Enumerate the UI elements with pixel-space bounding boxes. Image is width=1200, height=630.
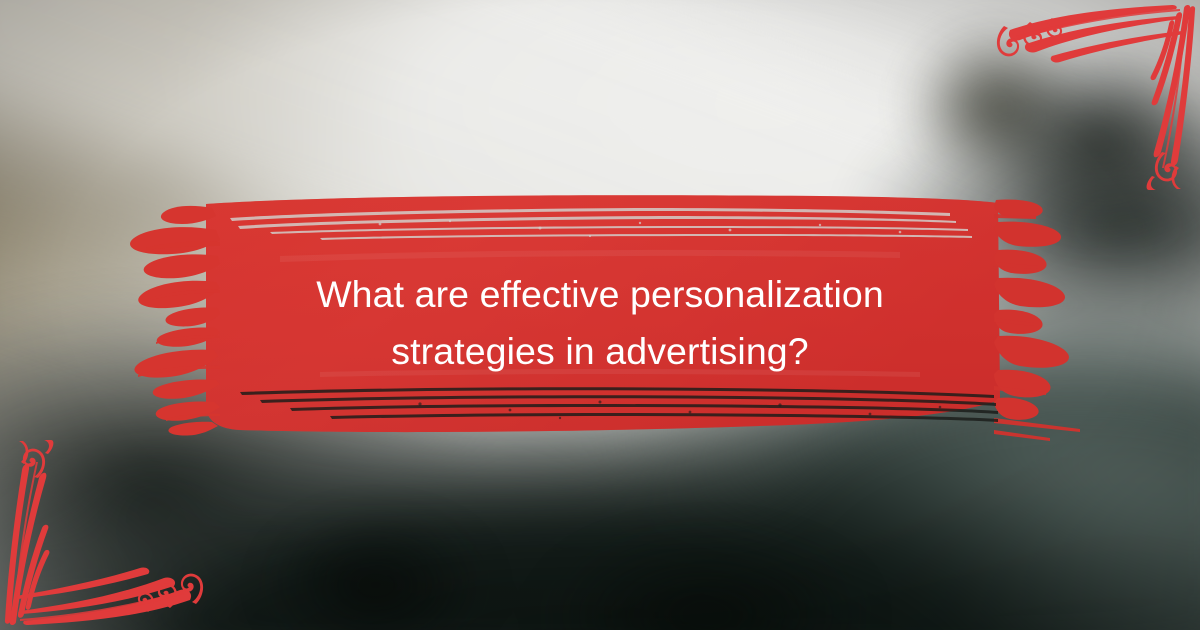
corner-flourish-bottom-left-icon [0, 440, 214, 630]
page-title: What are effective personalization strat… [210, 266, 990, 380]
social-card: What are effective personalization strat… [0, 0, 1200, 630]
corner-flourish-top-right-icon [986, 0, 1200, 190]
